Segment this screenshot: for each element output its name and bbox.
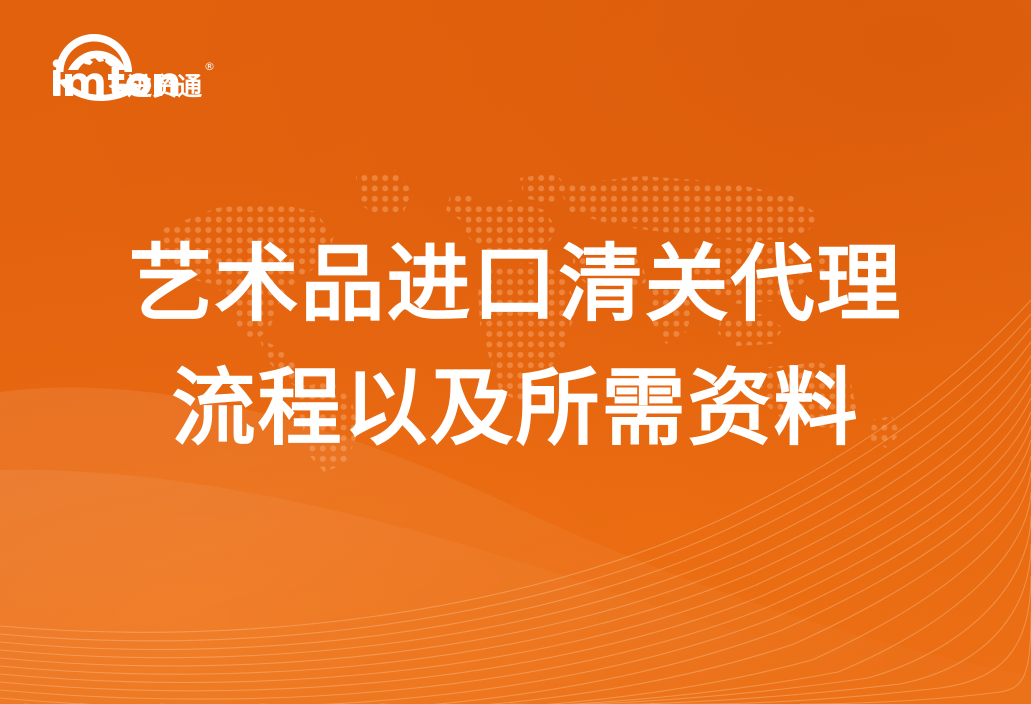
imton-logo[interactable]: 进贸通 ® xyxy=(38,28,214,106)
promo-banner: 进贸通 ® 艺术品进口清关代理 流程以及所需资料 xyxy=(0,0,1031,704)
svg-text:®: ® xyxy=(204,60,214,73)
svg-text:进贸通: 进贸通 xyxy=(127,72,202,101)
headline-line-1: 艺术品进口清关代理 xyxy=(0,222,1031,346)
headline-line-2: 流程以及所需资料 xyxy=(0,346,1031,470)
globe-swoosh-icon: 进贸通 ® xyxy=(38,28,214,108)
headline-block: 艺术品进口清关代理 流程以及所需资料 xyxy=(0,222,1031,470)
